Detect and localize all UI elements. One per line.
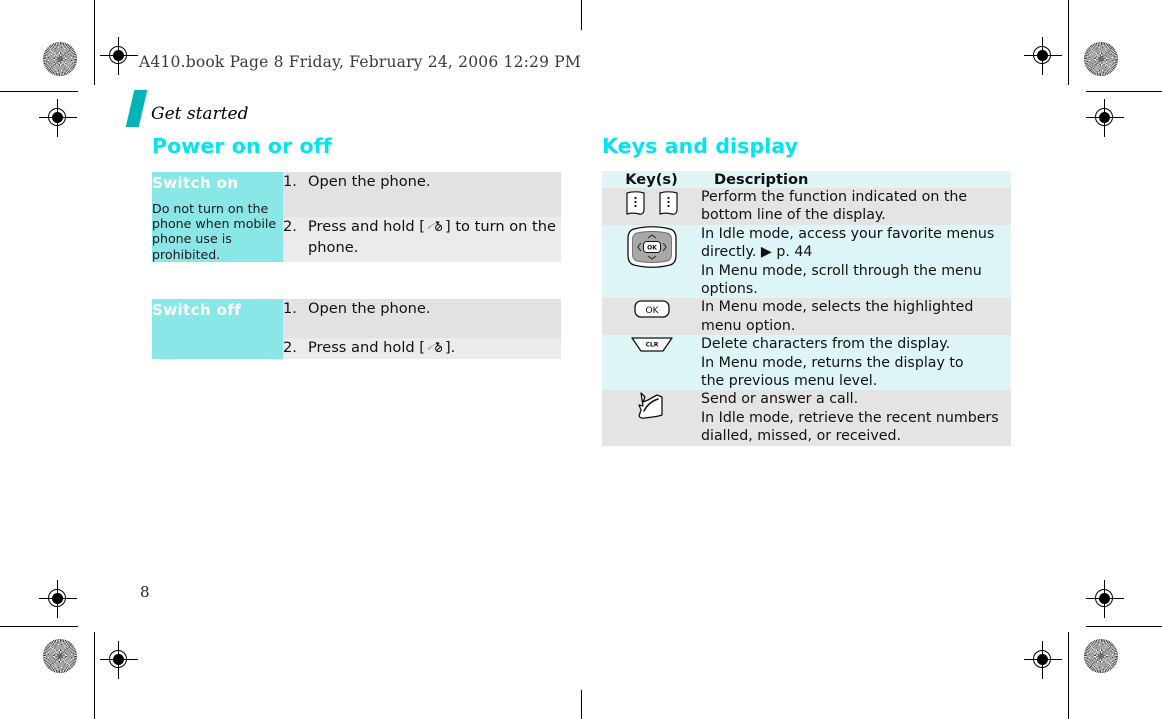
description-line: In Menu mode, selects the highlighted — [701, 298, 1011, 316]
send-key-icon — [635, 390, 669, 426]
registration-mark-top-left — [100, 37, 138, 75]
description-line: dialled, missed, or received. — [701, 427, 1011, 445]
column-header-keys: Key(s) — [602, 171, 701, 188]
ok-key-description: In Menu mode, selects the highlighted me… — [701, 298, 1011, 335]
description-line: Send or answer a call. — [701, 390, 1011, 408]
crop-line-right-outer-b — [1068, 632, 1069, 719]
table-header-row: Key(s) Description — [602, 171, 1011, 188]
navigation-key-icon-cell: OK — [602, 225, 701, 299]
navigation-key-description: In Idle mode, access your favorite menus… — [701, 225, 1011, 299]
table-row: OK In Idle mode, access your favorite me… — [602, 225, 1011, 299]
switch-on-label-title: Switch on — [152, 172, 283, 194]
switch-on-step-1: 1. Open the phone. — [283, 172, 561, 191]
section-heading-keys: Keys and display — [602, 134, 798, 158]
switch-off-step-2: 2. Press and hold []. — [283, 338, 561, 359]
step-text: Open the phone. — [308, 172, 561, 191]
chapter-accent-bar — [126, 90, 148, 127]
table-row: Switch on Do not turn on the phone when … — [152, 172, 561, 217]
step-number: 2. — [283, 338, 308, 359]
step-text-pre: Open the phone. — [308, 300, 431, 317]
crop-line-center-bottom — [581, 690, 582, 719]
clear-key-icon: CLR — [630, 335, 674, 359]
document-header-line: A410.book Page 8 Friday, February 24, 20… — [139, 53, 581, 71]
switch-on-step-2: 2. Press and hold [] to turn on the phon… — [283, 217, 561, 257]
registration-mark-bottom-right — [1024, 641, 1062, 679]
chapter-title: Get started — [151, 104, 248, 124]
registration-mark-bottom-left-outer — [39, 580, 77, 618]
description-line: options. — [701, 280, 1011, 298]
registration-mark-top-left-outer — [39, 99, 77, 137]
table-row: OK In Menu mode, selects the highlighted… — [602, 298, 1011, 335]
switch-off-step-1: 1. Open the phone. — [283, 299, 561, 318]
switch-off-label-cell: Switch off — [152, 299, 283, 359]
description-line: Delete characters from the display. — [701, 335, 1011, 353]
crop-line-right-outer — [1068, 0, 1069, 85]
send-key-description: Send or answer a call. In Idle mode, ret… — [701, 390, 1011, 445]
star-target-top-right — [1084, 42, 1118, 76]
crop-line-bot-right-h — [1086, 626, 1162, 627]
navigation-key-icon: OK — [626, 225, 678, 273]
ok-key-icon-cell: OK — [602, 298, 701, 335]
crop-line-center-top — [581, 0, 582, 30]
table-row: Switch off 1. Open the phone. — [152, 299, 561, 338]
star-target-top-left — [43, 42, 77, 76]
step-number: 1. — [283, 172, 308, 191]
switch-on-label-note: Do not turn on the phone when mobile pho… — [152, 201, 283, 262]
switch-on-label-cell: Switch on Do not turn on the phone when … — [152, 172, 283, 262]
switch-on-step-2-cell: 2. Press and hold [] to turn on the phon… — [283, 217, 561, 261]
registration-mark-top-right-outer — [1086, 99, 1124, 137]
registration-mark-bottom-left — [100, 641, 138, 679]
description-line: Perform the function indicated on the — [701, 188, 1011, 206]
crop-line-left-outer-b — [94, 632, 95, 719]
svg-text:OK: OK — [645, 306, 659, 316]
description-line: In Idle mode, retrieve the recent number… — [701, 409, 1011, 427]
table-keys-and-display: Key(s) Description Perform the functi — [602, 171, 1011, 446]
ok-key-icon: OK — [633, 298, 671, 324]
table-switch-on: Switch on Do not turn on the phone when … — [152, 172, 561, 262]
column-header-description: Description — [701, 171, 1011, 188]
step-text: Open the phone. — [308, 299, 561, 318]
clear-key-description: Delete characters from the display. In M… — [701, 335, 1011, 390]
description-line: directly. ▶ p. 44 — [701, 243, 1011, 261]
step-text: Press and hold []. — [308, 338, 561, 359]
table-row: CLR Delete characters from the display. … — [602, 335, 1011, 390]
step-number: 1. — [283, 299, 308, 318]
switch-on-step-1-cell: 1. Open the phone. — [283, 172, 561, 217]
table-switch-off: Switch off 1. Open the phone. 2. Press a… — [152, 299, 561, 359]
step-text: Press and hold [] to turn on the phone. — [308, 217, 561, 257]
soft-keys-icon — [623, 188, 681, 222]
step-text-pre: Open the phone. — [308, 173, 431, 190]
svg-text:OK: OK — [647, 244, 657, 251]
switch-off-label-title: Switch off — [152, 299, 283, 321]
registration-mark-top-right — [1024, 37, 1062, 75]
step-text-pre: Press and hold [ — [308, 218, 425, 235]
clear-key-icon-cell: CLR — [602, 335, 701, 390]
step-number: 2. — [283, 217, 308, 257]
send-key-icon-cell — [602, 390, 701, 445]
description-line: In Menu mode, scroll through the menu — [701, 262, 1011, 280]
crop-line-left-outer — [94, 0, 95, 85]
power-key-icon — [426, 340, 444, 359]
crop-line-top-right-h — [1086, 91, 1162, 92]
star-target-bottom-right — [1084, 639, 1118, 673]
soft-keys-icon-cell — [602, 188, 701, 225]
section-heading-power: Power on or off — [152, 134, 332, 158]
description-line: menu option. — [701, 317, 1011, 335]
description-line: bottom line of the display. — [701, 206, 1011, 224]
star-target-bottom-left — [43, 639, 77, 673]
registration-mark-bottom-right-outer — [1086, 580, 1124, 618]
crop-line-top-left-h — [0, 91, 78, 92]
description-line: In Menu mode, returns the display to — [701, 354, 1011, 372]
switch-off-step-1-cell: 1. Open the phone. — [283, 299, 561, 338]
svg-text:CLR: CLR — [645, 342, 658, 349]
table-row: Send or answer a call. In Idle mode, ret… — [602, 390, 1011, 445]
description-line: In Idle mode, access your favorite menus — [701, 225, 1011, 243]
page-number: 8 — [140, 583, 150, 601]
switch-off-step-2-cell: 2. Press and hold []. — [283, 338, 561, 359]
step-text-post: ]. — [445, 339, 455, 356]
description-line: the previous menu level. — [701, 372, 1011, 390]
table-row: Perform the function indicated on the bo… — [602, 188, 1011, 225]
step-text-pre: Press and hold [ — [308, 339, 425, 356]
power-key-icon — [426, 219, 444, 238]
crop-line-bot-left-h — [0, 626, 78, 627]
soft-keys-description: Perform the function indicated on the bo… — [701, 188, 1011, 225]
